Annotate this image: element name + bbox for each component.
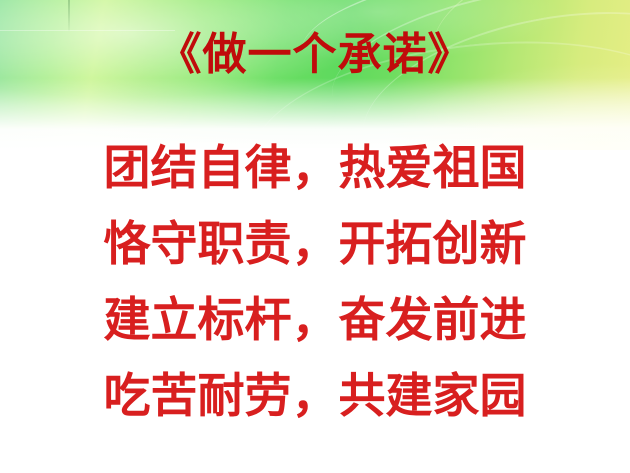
verse-list: 团结自律，热爱祖国 恪守职责，开拓创新 建立标杆，奋发前进 吃苦耐劳，共建家园	[0, 131, 630, 435]
verse-line-3: 建立标杆，奋发前进	[0, 283, 630, 359]
slide-canvas: 《做一个承诺》 团结自律，热爱祖国 恪守职责，开拓创新 建立标杆，奋发前进 吃苦…	[0, 0, 630, 473]
verse-line-4: 吃苦耐劳，共建家园	[0, 359, 630, 435]
verse-line-1: 团结自律，热爱祖国	[0, 131, 630, 207]
slide-content: 《做一个承诺》 团结自律，热爱祖国 恪守职责，开拓创新 建立标杆，奋发前进 吃苦…	[0, 0, 630, 473]
slide-title: 《做一个承诺》	[0, 29, 630, 81]
verse-line-2: 恪守职责，开拓创新	[0, 207, 630, 283]
